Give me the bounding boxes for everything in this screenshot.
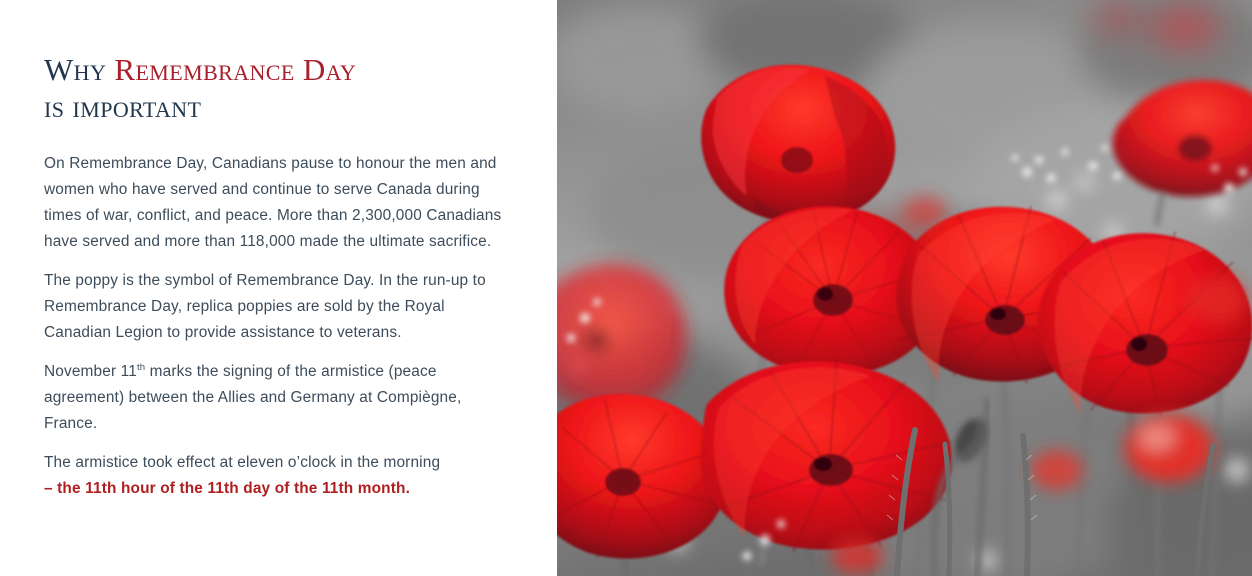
title-segment-is-important: is important	[44, 89, 514, 126]
paragraph-poppy-symbol: The poppy is the symbol of Remembrance D…	[44, 268, 514, 346]
poppy-field-illustration	[557, 0, 1252, 576]
title-segment-why: Why	[44, 52, 114, 87]
title-segment-remembrance-day: Remembrance Day	[114, 52, 356, 87]
ordinal-suffix-th: th	[137, 362, 145, 373]
poppy-field-photo	[557, 0, 1252, 576]
paragraph-eleventh-hour: The armistice took effect at eleven o’cl…	[44, 450, 514, 502]
text-content-block: Why Remembrance Day is important On Reme…	[44, 52, 514, 502]
page-title: Why Remembrance Day is important	[44, 52, 514, 125]
eleventh-hour-emphasis: – the 11th hour of the 11th day of the 1…	[44, 476, 514, 502]
slide-root: Why Remembrance Day is important On Reme…	[0, 0, 1252, 576]
paragraph-armistice-signing: November 11th marks the signing of the a…	[44, 359, 514, 437]
body-copy: On Remembrance Day, Canadians pause to h…	[44, 151, 514, 502]
text-panel: Why Remembrance Day is important On Reme…	[0, 0, 557, 576]
armistice-date-prefix: November 11	[44, 363, 137, 380]
paragraph-remembrance-stats: On Remembrance Day, Canadians pause to h…	[44, 151, 514, 255]
armistice-effect-text: The armistice took effect at eleven o’cl…	[44, 454, 440, 471]
